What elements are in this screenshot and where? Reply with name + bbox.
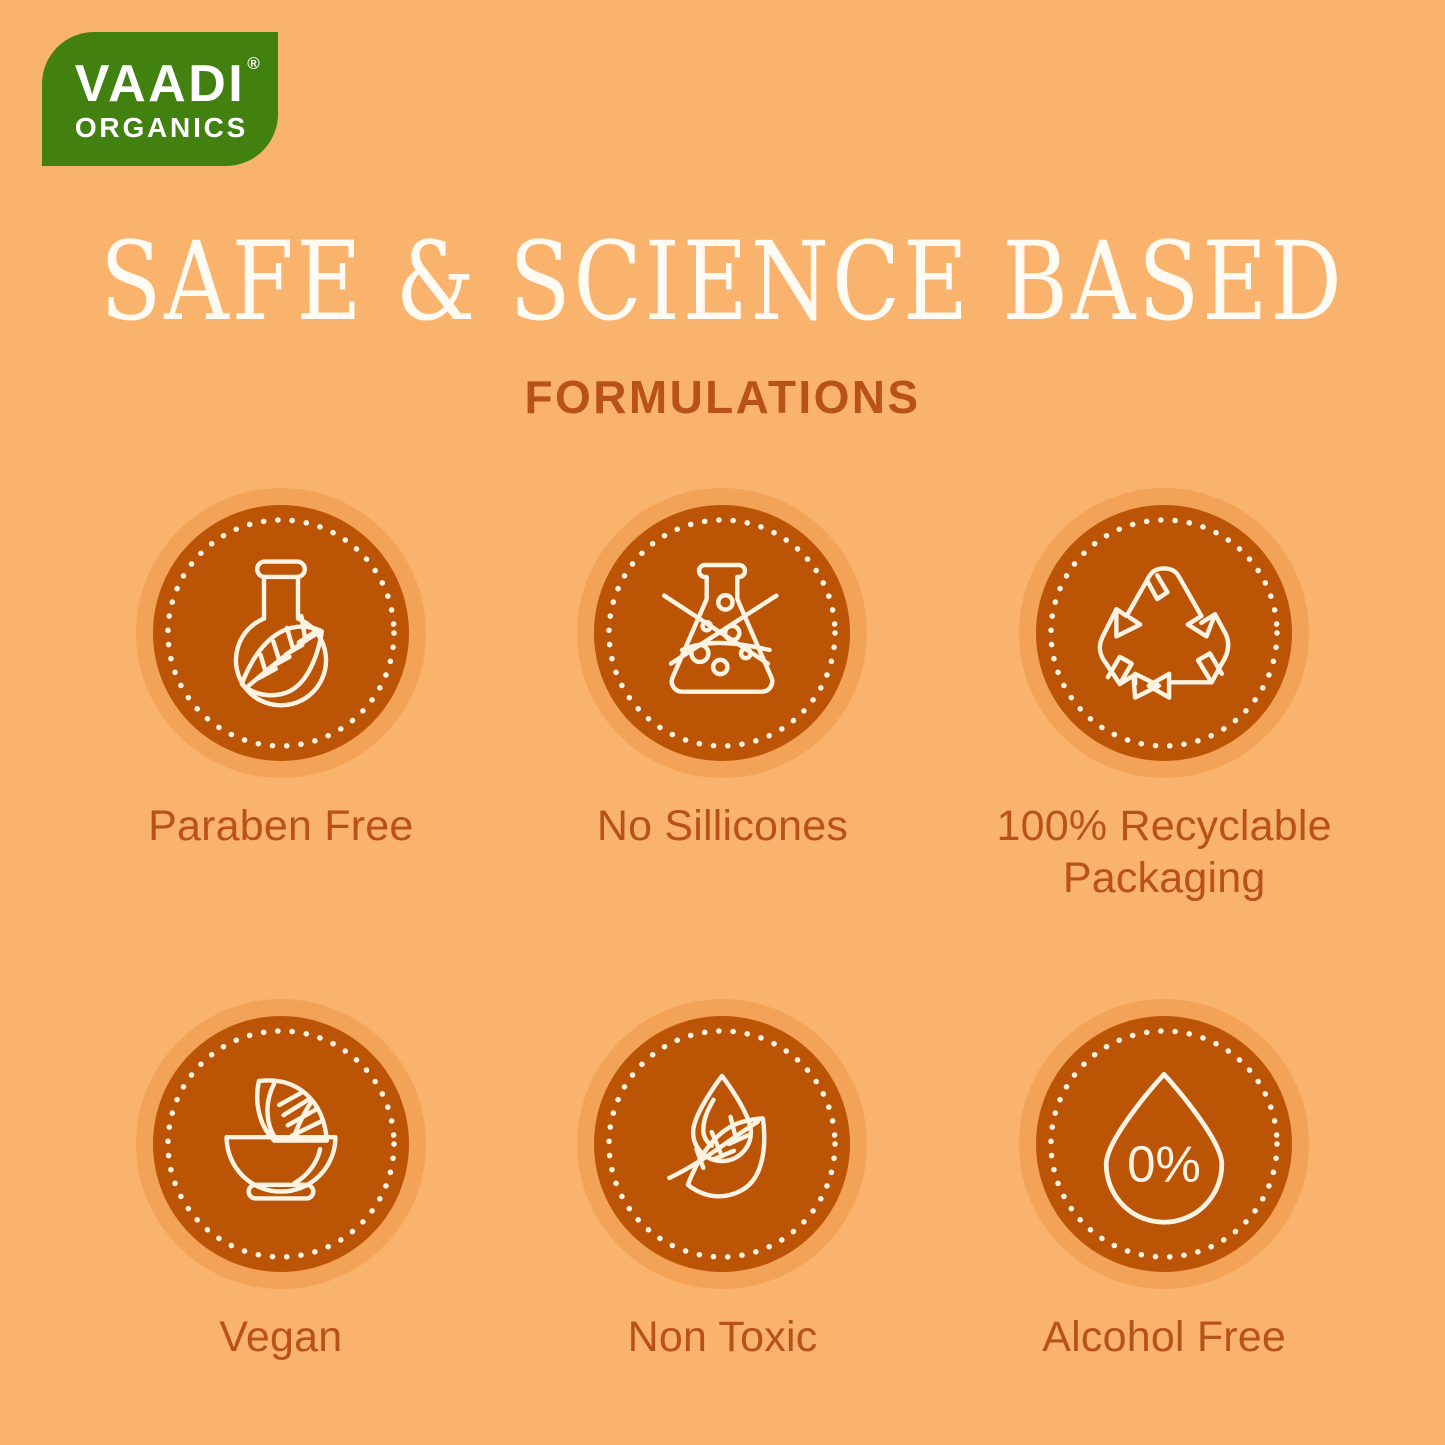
recycle-icon (1079, 548, 1249, 718)
badge-medallion (1019, 488, 1309, 778)
feature-badge: Paraben Free (60, 488, 502, 905)
feature-badge: Vegan (60, 999, 502, 1363)
badge-medallion (136, 488, 426, 778)
flask-with-leaf-icon (196, 548, 366, 718)
feature-badge: Non Toxic (502, 999, 944, 1363)
badge-medallion: 0% (1019, 999, 1309, 1289)
logo-wordmark: VAADI ® (75, 59, 245, 110)
badge-label: Paraben Free (148, 800, 413, 852)
droplet-on-leaf-icon (637, 1059, 807, 1229)
logo-tagline: ORGANICS (72, 113, 248, 144)
badge-medallion (577, 488, 867, 778)
droplet-zero-percent-icon: 0% (1079, 1059, 1249, 1229)
page-subtitle: FORMULATIONS (0, 374, 1445, 420)
badge-medallion (577, 999, 867, 1289)
zero-percent-label: 0% (1127, 1135, 1201, 1192)
badge-label: Non Toxic (628, 1311, 818, 1363)
logo-name: VAADI (75, 55, 245, 113)
feature-badge: 100% Recyclable Packaging (943, 488, 1385, 905)
feature-badge: No Sillicones (502, 488, 944, 905)
bowl-with-leaf-icon (196, 1059, 366, 1229)
feature-badge: 0% Alcohol Free (943, 999, 1385, 1363)
badge-label: 100% Recyclable Packaging (997, 800, 1332, 905)
page-title: SAFE & SCIENCE BASED (22, 228, 1424, 337)
crossed-out-erlenmeyer-flask-icon (637, 548, 807, 718)
registered-trademark-icon: ® (247, 55, 262, 72)
brand-logo: VAADI ® ORGANICS (42, 32, 278, 166)
feature-badge-grid: Paraben Free (60, 488, 1385, 1363)
badge-medallion (136, 999, 426, 1289)
badge-label: Alcohol Free (1042, 1311, 1286, 1363)
badge-label: No Sillicones (597, 800, 848, 852)
badge-label: Vegan (219, 1311, 342, 1363)
